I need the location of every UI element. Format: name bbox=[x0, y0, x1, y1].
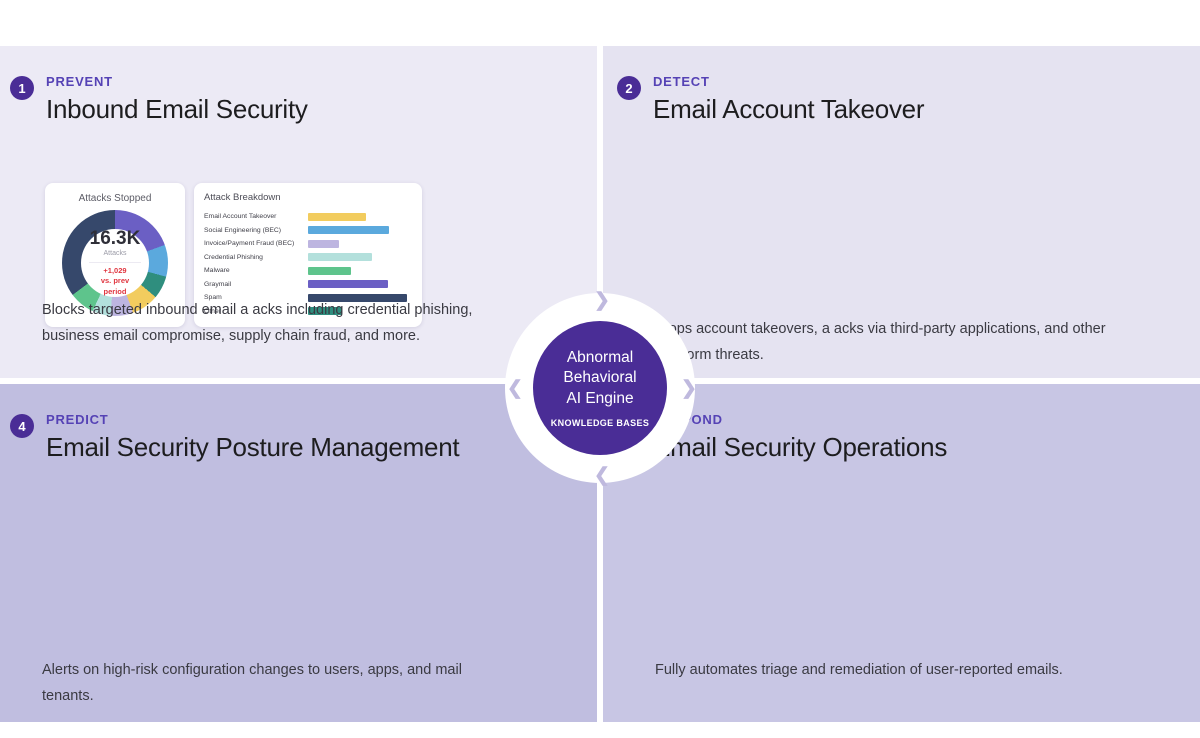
attacks-delta-value: +1,029 bbox=[89, 266, 141, 276]
chevron-down-icon: ❯ bbox=[681, 379, 697, 398]
hub-subtitle: KNOWLEDGE BASES bbox=[551, 418, 649, 428]
detect-title: Email Account Takeover bbox=[653, 92, 924, 127]
step-badge-1: 1 bbox=[10, 76, 34, 100]
infographic-canvas: 1 PREVENT Inbound Email Security Attacks… bbox=[0, 0, 1200, 738]
hub-title-line-2: Behavioral bbox=[563, 368, 636, 389]
attack-breakdown-row: Email Account Takeover bbox=[204, 210, 412, 224]
attack-breakdown-bar bbox=[308, 240, 339, 248]
step-badge-4: 4 bbox=[10, 414, 34, 438]
detect-description: Stops account takeovers, a acks via thir… bbox=[655, 317, 1115, 369]
chevron-up-icon: ❮ bbox=[507, 379, 523, 398]
attack-breakdown-label: Invoice/Payment Fraud (BEC) bbox=[204, 240, 308, 247]
predict-kicker: PREDICT bbox=[46, 408, 459, 429]
predict-description: Alerts on high-risk configuration change… bbox=[42, 658, 502, 710]
prevent-description: Blocks targeted inbound email a acks inc… bbox=[42, 298, 502, 350]
prevent-kicker: PREVENT bbox=[46, 70, 308, 91]
attack-breakdown-bar bbox=[308, 213, 366, 221]
attacks-delta-label: vs. prev period bbox=[89, 276, 141, 296]
attack-breakdown-label: Credential Phishing bbox=[204, 254, 308, 261]
attack-breakdown-row: Credential Phishing bbox=[204, 251, 412, 265]
prevent-title: Inbound Email Security bbox=[46, 92, 308, 127]
attack-breakdown-row: Invoice/Payment Fraud (BEC) bbox=[204, 237, 412, 251]
respond-kicker: RESPOND bbox=[653, 408, 947, 429]
chevron-left-icon: ❮ bbox=[594, 466, 610, 485]
hub-title-line-1: Abnormal bbox=[563, 348, 636, 369]
step-badge-2: 2 bbox=[617, 76, 641, 100]
donut-center: 16.3K Attacks +1,029 vs. prev period bbox=[81, 229, 149, 297]
attack-breakdown-label: Email Account Takeover bbox=[204, 213, 308, 220]
attack-breakdown-bar bbox=[308, 267, 351, 275]
respond-title: Email Security Operations bbox=[653, 430, 947, 465]
attack-breakdown-label: Graymail bbox=[204, 281, 308, 288]
detect-header: 2 DETECT Email Account Takeover bbox=[603, 46, 1200, 127]
attacks-value-label: Attacks bbox=[104, 250, 127, 257]
attack-breakdown-label: Malware bbox=[204, 267, 308, 274]
attack-breakdown-bar bbox=[308, 226, 389, 234]
hub-title-line-3: AI Engine bbox=[563, 389, 636, 410]
predict-title: Email Security Posture Management bbox=[46, 430, 459, 465]
hub-title: Abnormal Behavioral AI Engine bbox=[563, 348, 636, 410]
attack-breakdown-row: Social Engineering (BEC) bbox=[204, 224, 412, 238]
attack-breakdown-bar bbox=[308, 280, 388, 288]
prevent-header: 1 PREVENT Inbound Email Security bbox=[0, 46, 597, 127]
chevron-right-icon: ❯ bbox=[594, 291, 610, 310]
attack-breakdown-bar bbox=[308, 253, 372, 261]
attacks-stopped-title: Attacks Stopped bbox=[45, 193, 185, 204]
detect-kicker: DETECT bbox=[653, 70, 924, 91]
attacks-delta: +1,029 vs. prev period bbox=[89, 262, 141, 296]
attack-breakdown-title: Attack Breakdown bbox=[204, 192, 412, 203]
attacks-value: 16.3K bbox=[90, 229, 141, 248]
ai-engine-hub: ❯ ❯ ❮ ❮ Abnormal Behavioral AI Engine KN… bbox=[505, 293, 695, 483]
hub-core: Abnormal Behavioral AI Engine KNOWLEDGE … bbox=[533, 321, 667, 455]
attack-breakdown-row: Malware bbox=[204, 264, 412, 278]
attack-breakdown-row: Graymail bbox=[204, 278, 412, 292]
respond-description: Fully automates triage and remediation o… bbox=[655, 658, 1115, 684]
attack-breakdown-label: Social Engineering (BEC) bbox=[204, 227, 308, 234]
